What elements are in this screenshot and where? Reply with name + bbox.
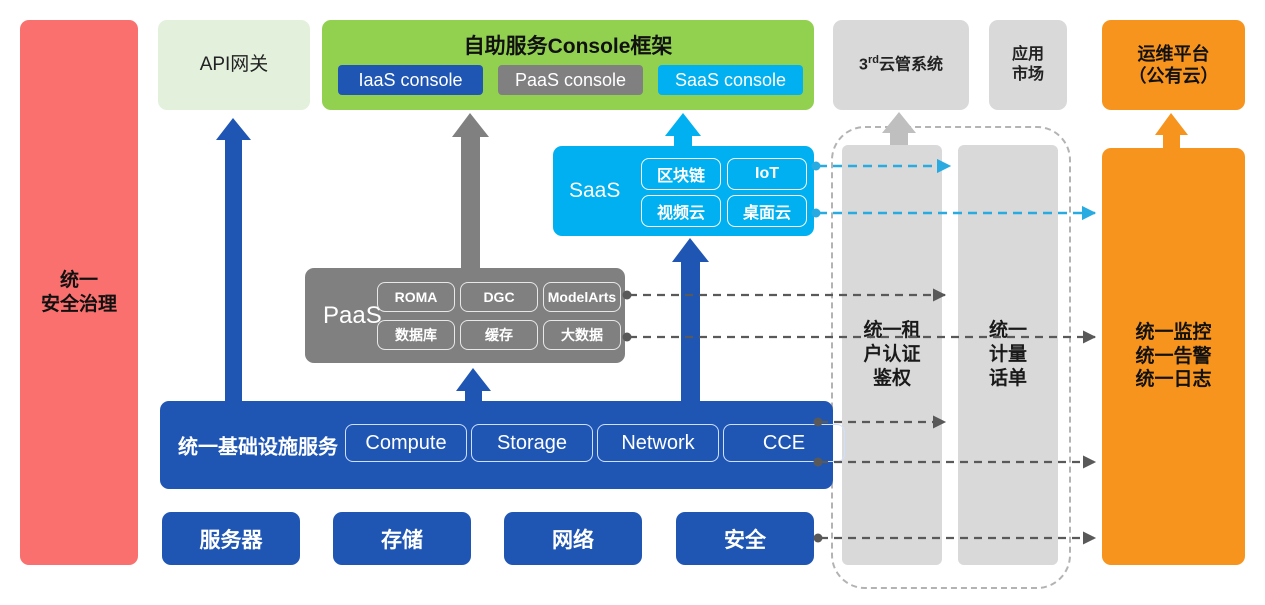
paas-item-roma[interactable]: ROMA <box>377 282 455 312</box>
unified-monitoring-label: 统一监控 统一告警 统一日志 <box>1135 321 1211 392</box>
saas-item-desktop-cloud-label: 桌面云 <box>743 199 791 223</box>
iaas-item-cce[interactable]: CCE <box>723 424 845 462</box>
unified-tenant-auth-label: 统一租 户认证 鉴权 <box>863 319 920 390</box>
paas-item-roma-label: ROMA <box>395 289 438 305</box>
iaas-item-network[interactable]: Network <box>597 424 719 462</box>
hardware-item-network-label: 网络 <box>552 524 594 554</box>
self-service-console-frame: 自助服务Console框架 IaaS console PaaS console … <box>322 20 814 110</box>
saas-panel: SaaS 区块链 IoT 视频云 桌面云 <box>553 146 814 236</box>
paas-item-dgc[interactable]: DGC <box>460 282 538 312</box>
arrow-iaas-to-paas <box>456 368 491 401</box>
third-party-cloud-mgmt-box: 3rd云管系统 <box>833 20 969 110</box>
saas-item-blockchain-label: 区块链 <box>657 162 705 186</box>
iaas-item-storage[interactable]: Storage <box>471 424 593 462</box>
paas-item-cache[interactable]: 缓存 <box>460 320 538 350</box>
api-gateway-box: API网关 <box>158 20 310 110</box>
arrow-iaas-to-saas <box>672 238 709 401</box>
iaas-console-chip[interactable]: IaaS console <box>338 65 483 95</box>
app-market-box: 应用 市场 <box>989 20 1067 110</box>
unified-metering-billing-label: 统一 计量 话单 <box>989 319 1027 390</box>
third-party-cloud-mgmt-label: 3rd云管系统 <box>859 54 943 75</box>
iaas-item-compute-label: Compute <box>365 432 446 455</box>
console-frame-title: 自助服务Console框架 <box>322 30 814 60</box>
saas-item-blockchain[interactable]: 区块链 <box>641 158 721 190</box>
hardware-item-storage[interactable]: 存储 <box>333 512 471 565</box>
iaas-item-storage-label: Storage <box>497 432 567 455</box>
paas-panel-label: PaaS <box>323 302 382 330</box>
ops-platform-box: 运维平台 （公有云） <box>1102 20 1245 110</box>
unified-monitoring-pillar: 统一监控 统一告警 统一日志 <box>1102 148 1245 565</box>
saas-item-iot-label: IoT <box>755 165 779 183</box>
saas-panel-label: SaaS <box>569 179 620 203</box>
iaas-item-compute[interactable]: Compute <box>345 424 467 462</box>
paas-item-cache-label: 缓存 <box>485 325 513 345</box>
iaas-item-cce-label: CCE <box>763 432 805 455</box>
hardware-item-server-label: 服务器 <box>200 524 263 554</box>
paas-item-dgc-label: DGC <box>483 289 514 305</box>
api-gateway-label: API网关 <box>200 53 269 77</box>
hardware-item-network[interactable]: 网络 <box>504 512 642 565</box>
hardware-item-storage-label: 存储 <box>381 524 423 554</box>
paas-console-chip[interactable]: PaaS console <box>498 65 643 95</box>
iaas-item-network-label: Network <box>621 432 694 455</box>
hardware-item-server[interactable]: 服务器 <box>162 512 300 565</box>
architecture-diagram: 统一 安全治理 API网关 自助服务Console框架 IaaS console… <box>0 0 1265 605</box>
unified-infrastructure-label: 统一基础设施服务 <box>178 431 338 460</box>
paas-item-modelarts-label: ModelArts <box>548 289 616 305</box>
paas-item-bigdata-label: 大数据 <box>561 325 603 345</box>
app-market-label: 应用 市场 <box>1012 45 1044 85</box>
hardware-item-security-label: 安全 <box>724 524 766 554</box>
arrow-paas-to-console <box>452 113 489 268</box>
arrow-monitoring-to-ops-platform <box>1155 113 1188 148</box>
unified-infrastructure-bar: 统一基础设施服务 Compute Storage Network CCE <box>160 401 833 489</box>
unified-tenant-auth-column: 统一租 户认证 鉴权 <box>842 145 942 565</box>
paas-item-modelarts[interactable]: ModelArts <box>543 282 621 312</box>
paas-panel: PaaS ROMA DGC ModelArts 数据库 缓存 大数据 <box>305 268 625 363</box>
paas-console-label: PaaS console <box>515 70 626 91</box>
paas-item-database[interactable]: 数据库 <box>377 320 455 350</box>
unified-metering-billing-column: 统一 计量 话单 <box>958 145 1058 565</box>
saas-item-video-cloud[interactable]: 视频云 <box>641 195 721 227</box>
arrow-saas-to-console <box>665 113 701 146</box>
paas-item-bigdata[interactable]: 大数据 <box>543 320 621 350</box>
saas-console-label: SaaS console <box>675 70 786 91</box>
saas-item-iot[interactable]: IoT <box>727 158 807 190</box>
arrow-iaas-to-api-gateway <box>216 118 251 401</box>
unified-security-pillar: 统一 安全治理 <box>20 20 138 565</box>
paas-item-database-label: 数据库 <box>395 325 437 345</box>
hardware-item-security[interactable]: 安全 <box>676 512 814 565</box>
iaas-console-label: IaaS console <box>358 70 462 91</box>
saas-item-video-cloud-label: 视频云 <box>657 199 705 223</box>
saas-item-desktop-cloud[interactable]: 桌面云 <box>727 195 807 227</box>
ops-platform-label: 运维平台 （公有云） <box>1129 43 1219 88</box>
saas-console-chip[interactable]: SaaS console <box>658 65 803 95</box>
unified-security-label: 统一 安全治理 <box>41 269 117 317</box>
